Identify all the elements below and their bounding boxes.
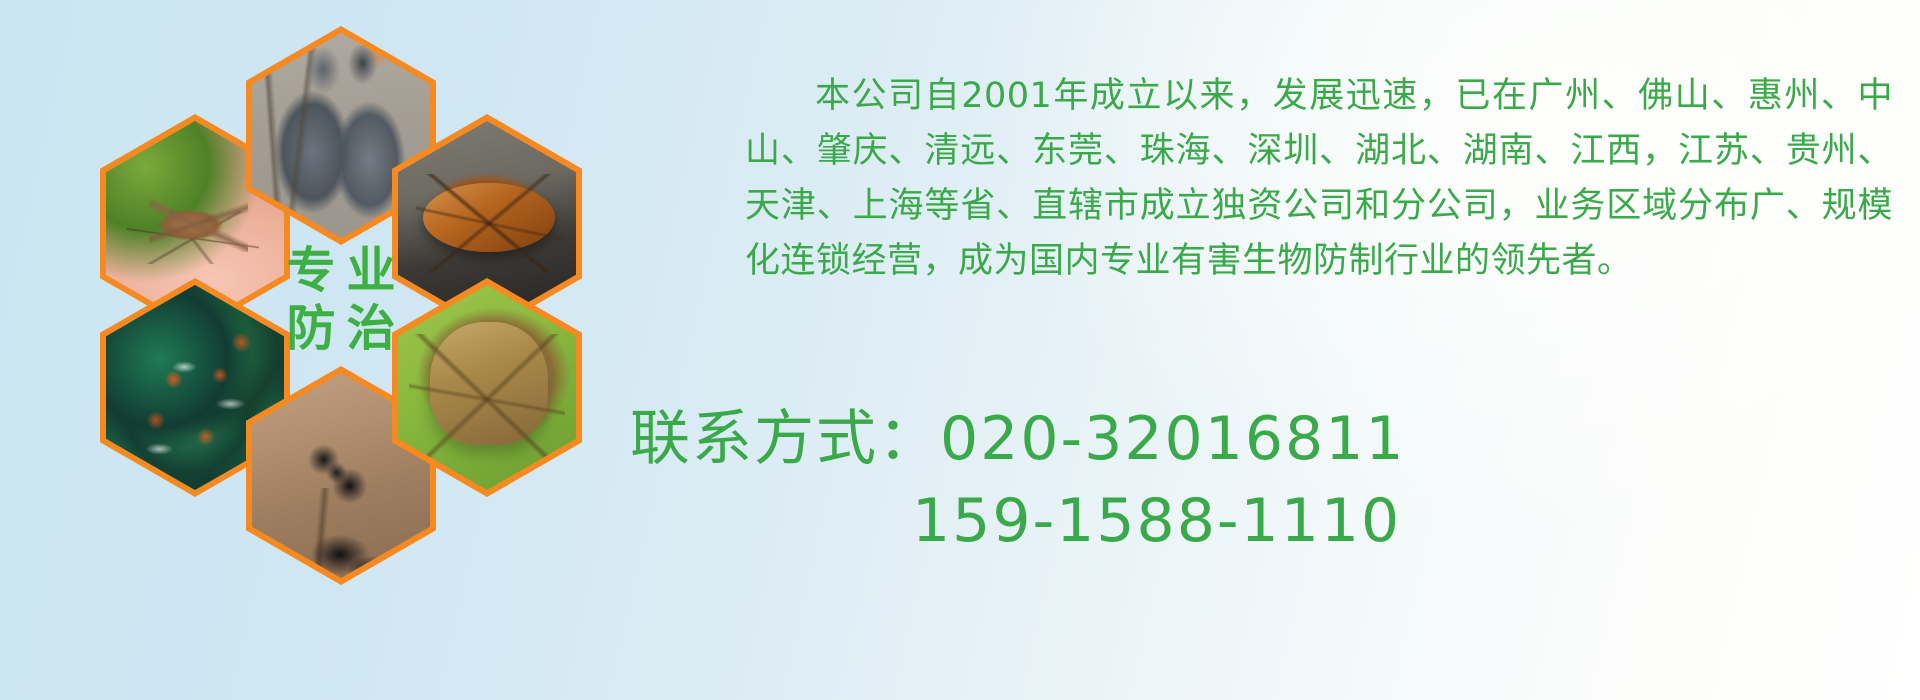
contact-primary-line[interactable]: 联系方式：020-32016811 (630, 398, 1630, 480)
hexagon-gallery: 专业 防治 (98, 0, 618, 696)
company-description: 本公司自2001年成立以来，发展迅速，已在广州、佛山、惠州、中山、肇庆、清远、东… (745, 69, 1893, 289)
slogan-line-2: 防治 (275, 300, 406, 358)
contact-block: 联系方式：020-32016811 159-1588-1110 (630, 398, 1630, 562)
banner-content: 本公司自2001年成立以来，发展迅速，已在广州、佛山、惠州、中山、肇庆、清远、东… (745, 0, 1905, 700)
contact-secondary-line[interactable]: 159-1588-1110 (630, 480, 1630, 562)
pest-control-banner: 专业 防治 本公司自2001年成立以来，发展迅速，已在广州、佛山、惠州、中山、肇… (0, 0, 1920, 700)
slogan-line-1: 专业 (275, 242, 406, 300)
